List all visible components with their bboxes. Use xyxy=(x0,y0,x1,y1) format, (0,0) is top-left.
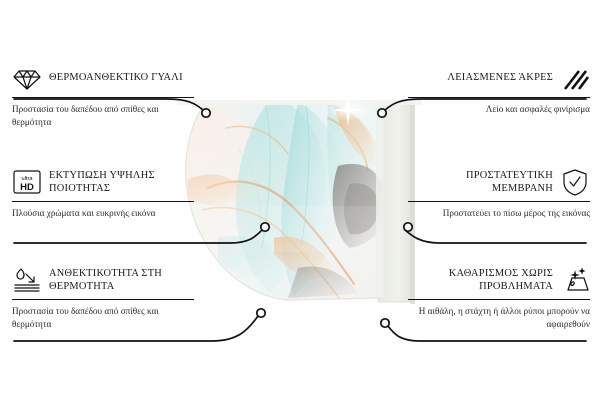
hd-label: HD xyxy=(20,182,34,193)
feature-title: ΚΑΘΑΡΙΣΜΟΣ ΧΩΡΙΣ ΠΡΟΒΛΗΜΑΤΑ xyxy=(408,267,553,293)
feature-description: Πλούσια χρώματα και ευκρινής εικόνα xyxy=(12,207,194,220)
feature-description: Προστατεύει το πίσω μέρος της εικόνας xyxy=(408,207,590,220)
feature-title: ΕΚΤΥΠΩΣΗ ΥΨΗΛΗΣ ΠΟΙΟΤΗΤΑΣ xyxy=(49,169,194,195)
feature-divider xyxy=(408,201,590,202)
feature-description: Λείο και ασφαλές φινίρισμα xyxy=(408,103,590,116)
feature-divider xyxy=(12,299,194,300)
feature-polished-edges: ΛΕΙΑΣΜΕΝΕΣ ΆΚΡΕΣ Λείο και ασφαλές φινίρι… xyxy=(408,62,590,116)
feature-header: ultra HD ΕΚΤΥΠΩΣΗ ΥΨΗΛΗΣ ΠΟΙΟΤΗΤΑΣ xyxy=(12,166,194,198)
feature-high-quality-print: ultra HD ΕΚΤΥΠΩΣΗ ΥΨΗΛΗΣ ΠΟΙΟΤΗΤΑΣ Πλούσ… xyxy=(12,166,194,220)
feature-divider xyxy=(12,97,194,98)
feature-header: ΛΕΙΑΣΜΕΝΕΣ ΆΚΡΕΣ xyxy=(408,62,590,94)
shield-check-icon xyxy=(560,167,590,197)
feature-divider xyxy=(408,299,590,300)
feature-description: Η αιθάλη, η στάχτη ή άλλοι ρύποι μπορούν… xyxy=(408,305,590,330)
feature-divider xyxy=(408,97,590,98)
feature-header: ΑΝΘΕΚΤΙΚΟΤΗΤΑ ΣΤΗ ΘΕΡΜΟΤΗΤΑ xyxy=(12,264,194,296)
feature-title: ΛΕΙΑΣΜΕΝΕΣ ΆΚΡΕΣ xyxy=(447,71,553,84)
heat-resistance-icon xyxy=(12,265,42,295)
feature-easy-cleaning: ΚΑΘΑΡΙΣΜΟΣ ΧΩΡΙΣ ΠΡΟΒΛΗΜΑΤΑ Η αιθάλη, η … xyxy=(408,264,590,330)
feature-title: ΑΝΘΕΚΤΙΚΟΤΗΤΑ ΣΤΗ ΘΕΡΜΟΤΗΤΑ xyxy=(49,267,194,293)
feature-divider xyxy=(12,201,194,202)
infographic-canvas: ΘΕΡΜΟΑΝΘΕΚΤΙΚΟ ΓΥΑΛΙ Προστασία του δαπέδ… xyxy=(0,0,600,400)
product-image xyxy=(178,88,422,320)
feature-header: ΚΑΘΑΡΙΣΜΟΣ ΧΩΡΙΣ ΠΡΟΒΛΗΜΑΤΑ xyxy=(408,264,590,296)
feature-header: ΠΡΟΣΤΑΤΕΥΤΙΚΗ ΜΕΜΒΡΑΝΗ xyxy=(408,166,590,198)
feature-title: ΠΡΟΣΤΑΤΕΥΤΙΚΗ ΜΕΜΒΡΑΝΗ xyxy=(408,169,553,195)
feature-description: Προστασία του δαπέδου από σπίθες και θερ… xyxy=(12,103,194,128)
feature-description: Προστασία του δαπέδου από σπίθες και θερ… xyxy=(12,305,194,330)
diamond-icon xyxy=(12,63,42,93)
feature-protective-membrane: ΠΡΟΣΤΑΤΕΥΤΙΚΗ ΜΕΜΒΡΑΝΗ Προστατεύει το πί… xyxy=(408,166,590,220)
ultra-hd-badge-icon: ultra HD xyxy=(12,167,42,197)
easy-cleaning-icon xyxy=(560,265,590,295)
feature-heat-resistant-glass: ΘΕΡΜΟΑΝΘΕΚΤΙΚΟ ΓΥΑΛΙ Προστασία του δαπέδ… xyxy=(12,62,194,128)
polished-edges-icon xyxy=(560,63,590,93)
connector-dot xyxy=(381,319,389,327)
feature-title: ΘΕΡΜΟΑΝΘΕΚΤΙΚΟ ΓΥΑΛΙ xyxy=(49,71,183,84)
feature-header: ΘΕΡΜΟΑΝΘΕΚΤΙΚΟ ΓΥΑΛΙ xyxy=(12,62,194,94)
feature-heat-durability: ΑΝΘΕΚΤΙΚΟΤΗΤΑ ΣΤΗ ΘΕΡΜΟΤΗΤΑ Προστασία το… xyxy=(12,264,194,330)
